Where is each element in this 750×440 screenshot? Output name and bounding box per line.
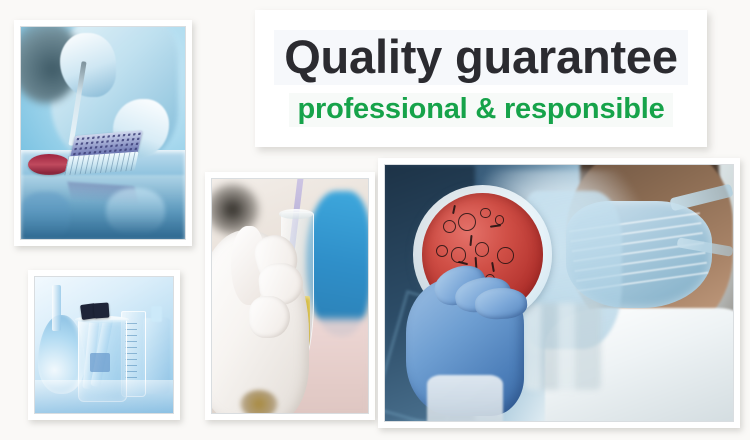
test-tube-rim (279, 209, 313, 218)
glove-finger-3 (249, 296, 290, 338)
colony-mark (458, 213, 476, 231)
banner-title: Quality guarantee (274, 30, 688, 85)
bench-surface (35, 380, 173, 413)
quality-guarantee-banner: Quality guarantee professional & respons… (255, 10, 707, 147)
photo-panel-pipetting (14, 20, 192, 246)
background-test-tubes (524, 303, 601, 390)
colony-mark (443, 220, 456, 233)
banner-text-group: Quality guarantee professional & respons… (255, 10, 707, 147)
promo-banner-image: Quality guarantee professional & respons… (0, 0, 750, 440)
photo-frame-inner (20, 26, 186, 240)
tube-cap-2 (94, 302, 110, 318)
streak-mark (490, 224, 501, 228)
scene-glassware (35, 277, 173, 413)
reagent-bottle-neck (151, 306, 162, 322)
left-reflection (21, 192, 70, 239)
photo-panel-scientist (378, 158, 740, 428)
colony-mark (495, 215, 504, 224)
coat-sleeve (427, 375, 504, 421)
scene-testtube (212, 179, 368, 413)
colony-mark (475, 242, 489, 256)
colony-mark (480, 208, 491, 219)
photo-frame-inner (384, 164, 734, 422)
streak-mark (452, 205, 456, 214)
photo-panel-testtube (205, 172, 375, 420)
photo-panel-glassware (28, 270, 180, 420)
streak-mark (491, 262, 495, 272)
photo-frame-inner (211, 178, 369, 414)
background-blue-shape (306, 191, 368, 336)
colony-mark (436, 245, 448, 257)
banner-subtitle: professional & responsible (289, 93, 672, 127)
flask-neck (52, 285, 62, 331)
beaker-label (90, 353, 109, 372)
colony-mark (497, 247, 514, 264)
scene-scientist (385, 165, 733, 421)
hand-reflection (106, 188, 165, 235)
streak-mark (470, 235, 473, 246)
background-foreground-blur (240, 390, 277, 413)
scene-pipetting (21, 27, 185, 239)
photo-frame-inner (34, 276, 174, 414)
